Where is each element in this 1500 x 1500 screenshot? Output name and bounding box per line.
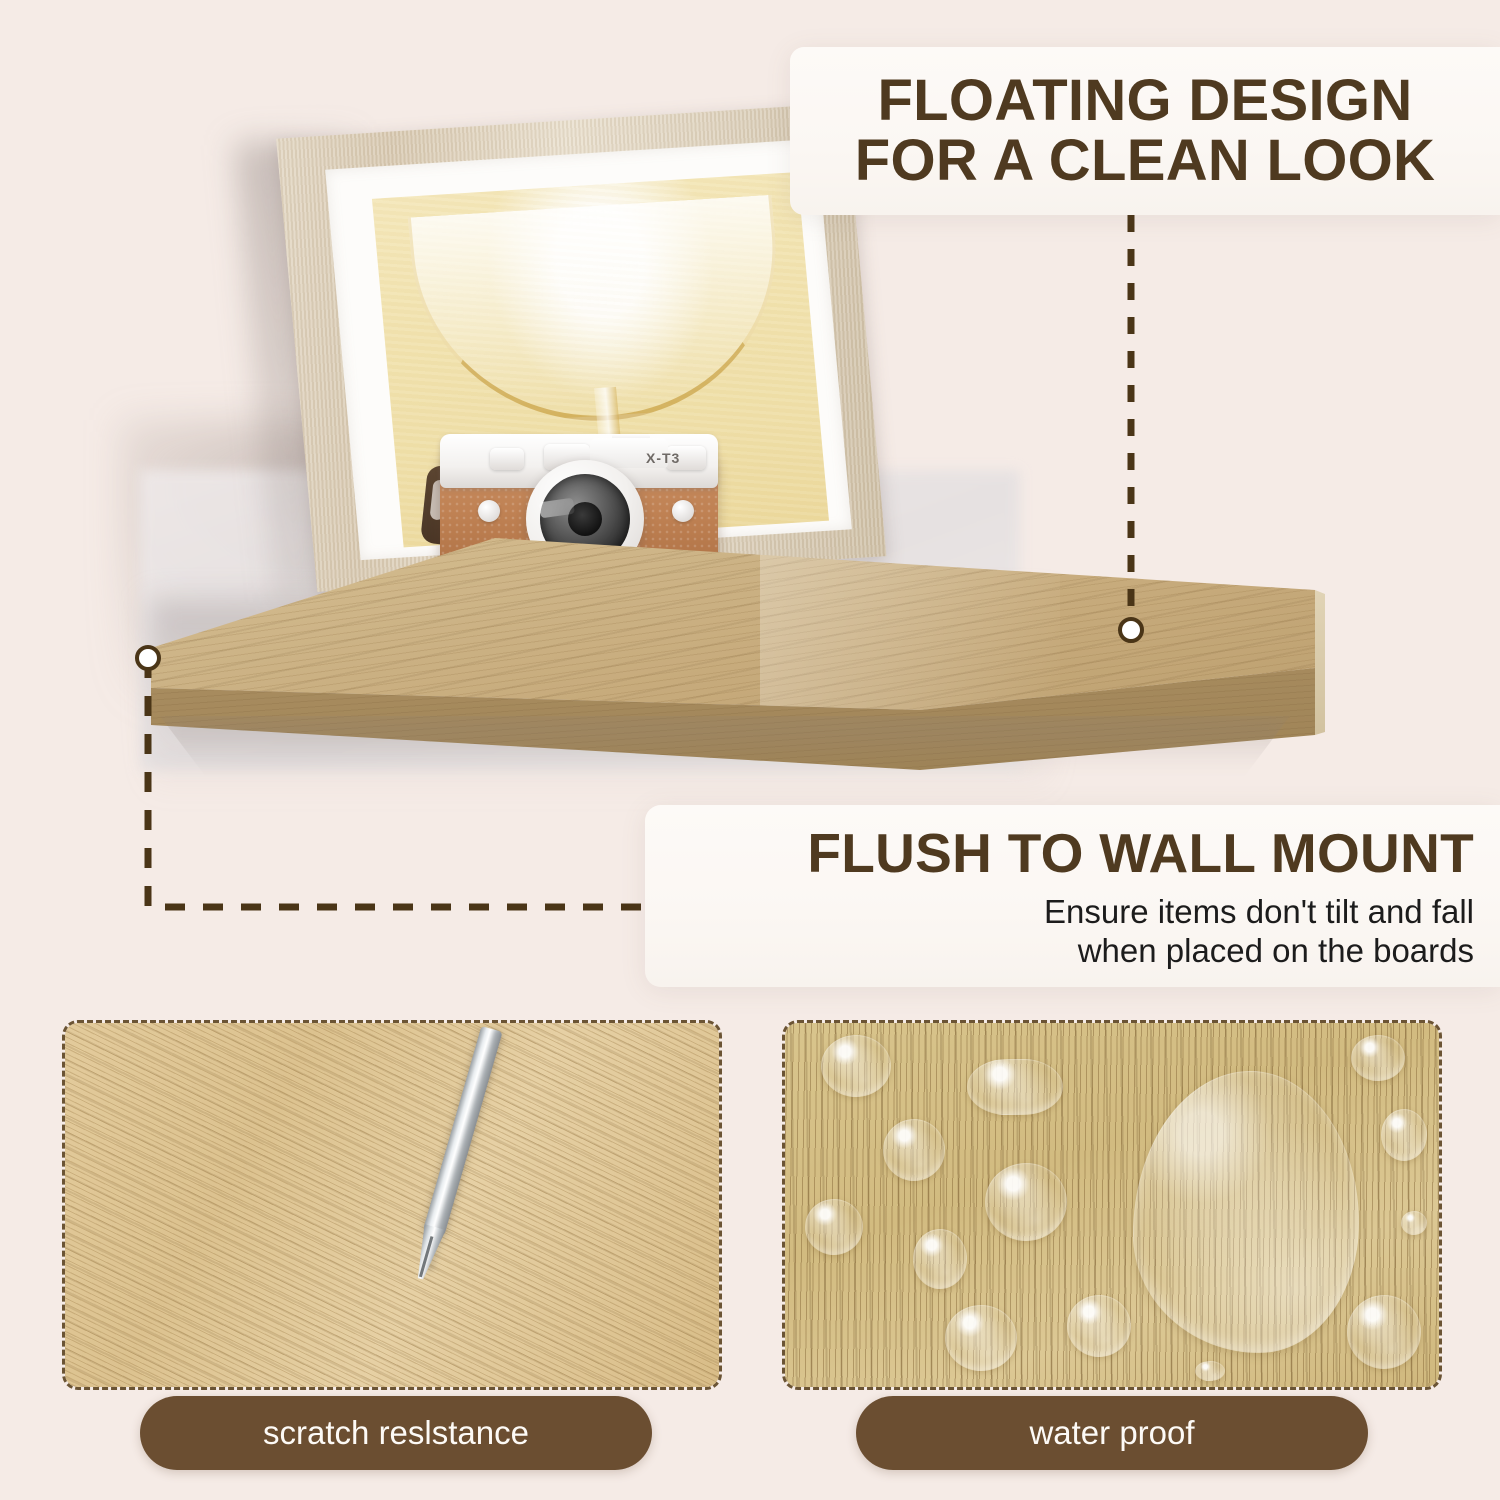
- water-droplet: [913, 1229, 967, 1289]
- water-droplet: [1067, 1295, 1131, 1357]
- water-droplet: [1381, 1109, 1427, 1161]
- water-droplet: [1195, 1361, 1225, 1381]
- flush-subcopy: Ensure items don't tilt and fall when pl…: [1044, 893, 1474, 970]
- camera-front-button: [478, 500, 500, 522]
- water-droplet: [1347, 1295, 1421, 1369]
- leader-dot-floating: [1118, 617, 1144, 643]
- shelf-top-surface: [140, 520, 1330, 710]
- water-proof-image: [782, 1020, 1442, 1390]
- pill-water-proof[interactable]: water proof: [856, 1396, 1368, 1470]
- scratch-wood-texture: [62, 1020, 722, 1390]
- water-droplet: [1351, 1035, 1405, 1081]
- water-droplet: [805, 1199, 863, 1255]
- callout-floating-design: FLOATING DESIGN FOR A CLEAN LOOK: [790, 47, 1500, 215]
- floating-design-line2: FOR A CLEAN LOOK: [855, 131, 1435, 191]
- water-droplet: [821, 1035, 891, 1097]
- pill-scratch-resistance[interactable]: scratch reslstance: [140, 1396, 652, 1470]
- floating-shelf: [140, 520, 1330, 800]
- flush-subcopy-line2: when placed on the boards: [1044, 932, 1474, 970]
- callout-flush-to-wall: FLUSH TO WALL MOUNT Ensure items don't t…: [645, 805, 1500, 987]
- water-droplet: [967, 1059, 1063, 1115]
- flush-subcopy-line1: Ensure items don't tilt and fall: [1044, 893, 1474, 931]
- water-droplet: [883, 1119, 945, 1181]
- leader-dot-flush: [135, 645, 161, 671]
- scratch-resistance-image: [62, 1020, 722, 1390]
- flush-headline: FLUSH TO WALL MOUNT: [807, 826, 1474, 881]
- pill-scratch-label: scratch reslstance: [263, 1414, 529, 1452]
- water-droplet: [945, 1305, 1017, 1371]
- floating-design-headline: FLOATING DESIGN FOR A CLEAN LOOK: [855, 71, 1435, 190]
- infographic-canvas: X-T3 FLOATING DES: [0, 0, 1500, 1500]
- pill-waterproof-label: water proof: [1029, 1414, 1194, 1452]
- feature-card-waterproof: [782, 1020, 1442, 1390]
- water-droplet: [1401, 1211, 1427, 1235]
- water-droplet: [985, 1163, 1067, 1241]
- camera-side-button: [672, 500, 694, 522]
- shelf-drop-shadow: [160, 716, 1290, 776]
- camera-model-badge: X-T3: [646, 450, 680, 466]
- feature-card-scratch: [62, 1020, 722, 1390]
- floating-design-line1: FLOATING DESIGN: [855, 71, 1435, 131]
- camera-dial-left: [490, 448, 524, 470]
- shelf-top-grain: [140, 520, 1330, 710]
- shelf-top-sheen: [760, 520, 1060, 710]
